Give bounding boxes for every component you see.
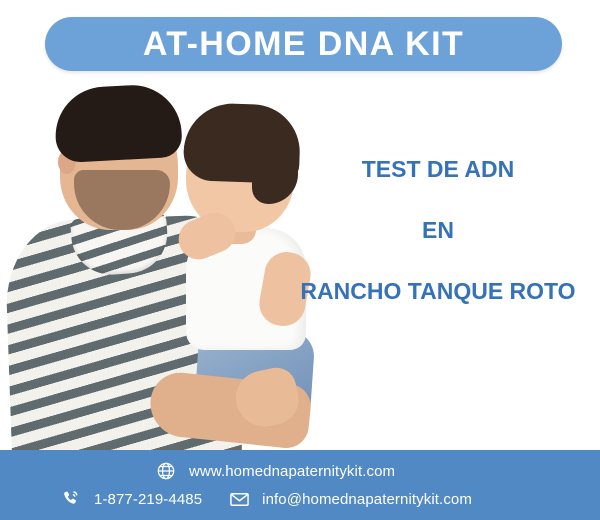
envelope-icon [228, 488, 250, 510]
headline-line-1: TEST DE ADN [288, 158, 588, 181]
globe-icon [155, 460, 177, 482]
footer-row-website: www.homednapaternitykit.com [155, 460, 395, 482]
headline-block: TEST DE ADN EN RANCHO TANQUE ROTO [288, 158, 588, 303]
headline-line-3: RANCHO TANQUE ROTO [288, 280, 588, 303]
poster-canvas: AT-HOME DNA KIT TEST DE ADN EN RANCHO TA… [0, 0, 600, 520]
footer-contact-bar: www.homednapaternitykit.com 1-877-219-44… [0, 450, 600, 520]
phone-ringing-icon [60, 488, 82, 510]
headline-line-2: EN [288, 219, 588, 242]
footer-row-phone-email: 1-877-219-4485 info@homednapaternitykit.… [60, 488, 472, 510]
contact-website[interactable]: www.homednapaternitykit.com [155, 460, 395, 482]
man-hair [53, 83, 183, 163]
website-text: www.homednapaternitykit.com [189, 464, 395, 479]
header-banner: AT-HOME DNA KIT [45, 17, 562, 71]
family-photo [0, 78, 330, 453]
contact-phone[interactable]: 1-877-219-4485 [60, 488, 202, 510]
phone-text: 1-877-219-4485 [94, 492, 202, 507]
contact-email[interactable]: info@homednapaternitykit.com [228, 488, 472, 510]
email-text: info@homednapaternitykit.com [262, 492, 472, 507]
header-title: AT-HOME DNA KIT [143, 27, 464, 61]
